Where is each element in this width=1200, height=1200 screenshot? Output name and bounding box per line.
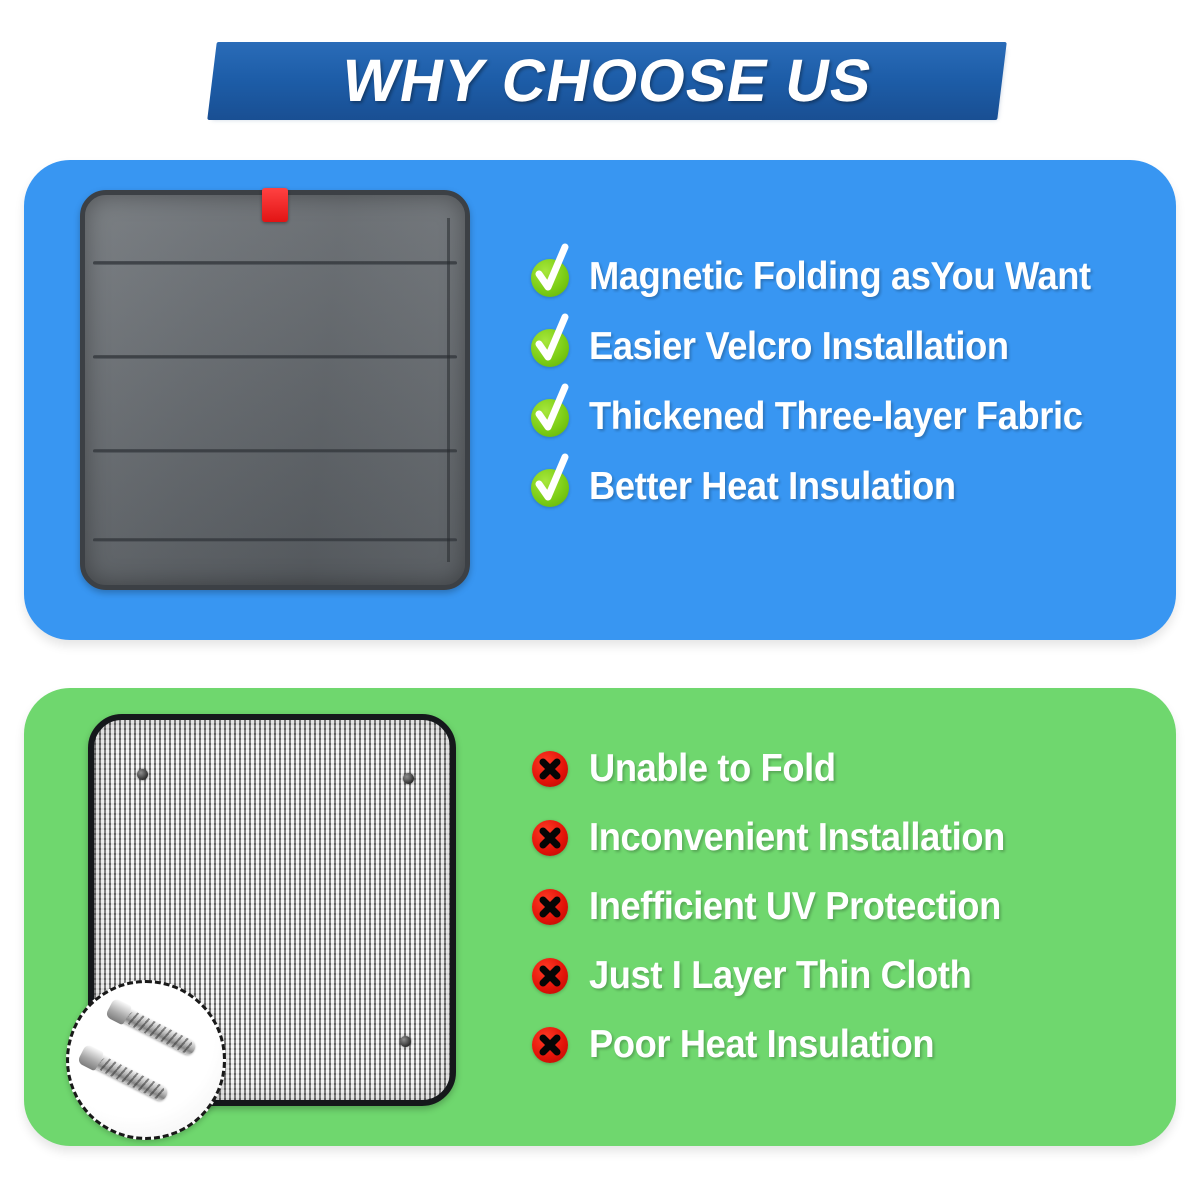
screw-hole-icon [403, 773, 414, 784]
fold-seam [93, 355, 458, 359]
list-item-label: Thickened Three-layer Fabric [589, 397, 1083, 436]
x-icon [529, 747, 571, 789]
list-item-label: Inefficient UV Protection [589, 887, 1001, 926]
banner-body: WHY CHOOSE US [207, 42, 1007, 120]
list-item-label: Magnetic Folding asYou Want [589, 257, 1091, 296]
fold-seam [93, 449, 458, 453]
check-icon [529, 395, 571, 437]
pros-list: Magnetic Folding asYou Want Easier Velcr… [529, 252, 1129, 510]
our-product-photo [80, 190, 470, 590]
list-item-label: Unable to Fold [589, 749, 836, 788]
list-item: Just I Layer Thin Cloth [529, 951, 1036, 999]
list-item: Better Heat Insulation [529, 462, 1129, 510]
cons-list: Unable to Fold Inconvenient Installation… [529, 744, 1036, 1068]
check-icon [529, 255, 571, 297]
x-icon [529, 954, 571, 996]
fold-seam [93, 538, 458, 542]
list-item-label: Poor Heat Insulation [589, 1025, 934, 1064]
screw-icon [114, 1004, 197, 1056]
cons-panel: Unable to Fold Inconvenient Installation… [24, 688, 1176, 1146]
list-item-label: Easier Velcro Installation [589, 327, 1009, 366]
screws-callout [66, 980, 226, 1140]
list-item: Inconvenient Installation [529, 813, 1036, 861]
header-banner: WHY CHOOSE US [212, 42, 1002, 120]
list-item: Inefficient UV Protection [529, 882, 1036, 930]
list-item: Magnetic Folding asYou Want [529, 252, 1129, 300]
list-item-label: Just I Layer Thin Cloth [589, 956, 971, 995]
screw-hole-icon [400, 1036, 411, 1047]
competitor-product-photo [88, 714, 456, 1106]
edge-seam [447, 218, 450, 561]
x-icon [529, 1023, 571, 1065]
x-icon [529, 885, 571, 927]
red-pull-tab-icon [262, 188, 288, 222]
fold-seam [93, 261, 458, 265]
list-item: Poor Heat Insulation [529, 1020, 1036, 1068]
x-icon [529, 816, 571, 858]
page-title: WHY CHOOSE US [337, 51, 876, 111]
pros-panel: Magnetic Folding asYou Want Easier Velcr… [24, 160, 1176, 640]
sunshade-body [80, 190, 470, 590]
screw-hole-icon [137, 769, 148, 780]
list-item-label: Inconvenient Installation [589, 818, 1005, 857]
check-icon [529, 325, 571, 367]
list-item-label: Better Heat Insulation [589, 467, 956, 506]
list-item: Unable to Fold [529, 744, 1036, 792]
check-icon [529, 465, 571, 507]
screw-icon [86, 1050, 169, 1102]
list-item: Easier Velcro Installation [529, 322, 1129, 370]
list-item: Thickened Three-layer Fabric [529, 392, 1129, 440]
